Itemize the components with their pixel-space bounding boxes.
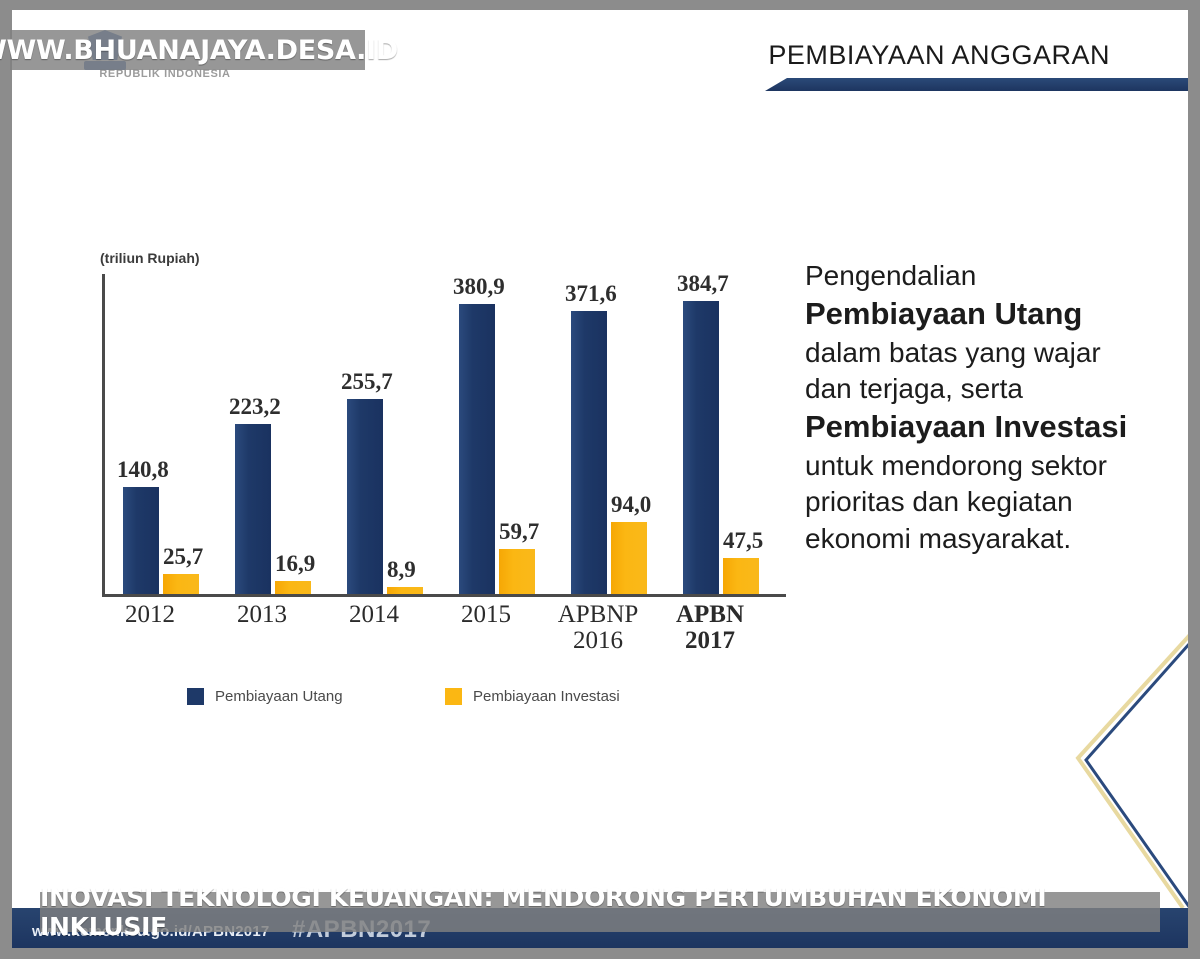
x-axis-tick-label: 2012 <box>95 602 205 628</box>
bar-value-label: 380,9 <box>453 274 505 300</box>
bar-pembiayaan-investasi <box>611 522 647 594</box>
bar-value-label: 384,7 <box>677 271 729 297</box>
bar-value-label: 59,7 <box>499 519 539 545</box>
narrative-plain-3: untuk mendorong sektor prioritas dan keg… <box>805 450 1107 554</box>
bar-pembiayaan-investasi <box>387 587 423 594</box>
legend-swatch-icon <box>445 688 462 705</box>
bar-group: 384,747,5 <box>683 274 763 594</box>
x-axis-tick-label: APBN2017 <box>655 602 765 655</box>
legend-swatch-icon <box>187 688 204 705</box>
bar-group: 255,78,9 <box>347 274 427 594</box>
bar-value-label: 16,9 <box>275 551 315 577</box>
bar-group: 223,216,9 <box>235 274 315 594</box>
legend-label: Pembiayaan Investasi <box>473 688 620 705</box>
bar-pembiayaan-utang <box>235 424 271 594</box>
narrative-bold-pembiayaan-utang: Pembiayaan Utang <box>805 296 1082 331</box>
bar-value-label: 140,8 <box>117 457 169 483</box>
bar-pembiayaan-utang <box>459 304 495 594</box>
infographic-page: REPUBLIK INDONESIA PEMBIAYAAN ANGGARAN (… <box>12 10 1188 948</box>
narrative-text: Pengendalian Pembiayaan Utang dalam bata… <box>805 258 1145 557</box>
bar-group: 380,959,7 <box>459 274 539 594</box>
bar-group: 140,825,7 <box>123 274 203 594</box>
bar-value-label: 8,9 <box>387 557 416 583</box>
x-axis-tick-label: 2013 <box>207 602 317 628</box>
watermark-bottom: INOVASI TEKNOLOGI KEUANGAN: MENDORONG PE… <box>40 892 1160 932</box>
bar-value-label: 47,5 <box>723 528 763 554</box>
bar-pembiayaan-utang <box>123 487 159 594</box>
bar-value-label: 94,0 <box>611 492 651 518</box>
bar-value-label: 255,7 <box>341 369 393 395</box>
bar-chart: (triliun Rupiah) 140,825,7223,216,9255,7… <box>78 250 778 710</box>
narrative-bold-pembiayaan-investasi: Pembiayaan Investasi <box>805 409 1127 444</box>
plot-area: 140,825,7223,216,9255,78,9380,959,7371,6… <box>105 274 786 594</box>
watermark-top: WWW.BHUANAJAYA.DESA.ID <box>10 30 365 70</box>
bar-pembiayaan-utang <box>571 311 607 594</box>
x-axis-tick-label: 2014 <box>319 602 429 628</box>
bar-pembiayaan-investasi <box>723 558 759 594</box>
x-axis-tick-label: APBNP2016 <box>543 602 653 655</box>
legend-item[interactable]: Pembiayaan Utang <box>187 688 343 705</box>
bar-value-label: 371,6 <box>565 281 617 307</box>
narrative-plain-1: Pengendalian <box>805 260 976 291</box>
bar-pembiayaan-utang <box>683 301 719 594</box>
page-title: PEMBIAYAAN ANGGARAN <box>768 40 1110 71</box>
bar-pembiayaan-investasi <box>499 549 535 594</box>
pentagon-outline-decoration <box>968 608 1188 908</box>
bar-pembiayaan-investasi <box>163 574 199 594</box>
bar-value-label: 25,7 <box>163 544 203 570</box>
x-axis-tick-label: 2015 <box>431 602 541 628</box>
legend-item[interactable]: Pembiayaan Investasi <box>445 688 620 705</box>
bar-pembiayaan-investasi <box>275 581 311 594</box>
axis-unit-label: (triliun Rupiah) <box>100 250 200 266</box>
title-underline-bar <box>765 78 1188 91</box>
bar-group: 371,694,0 <box>571 274 651 594</box>
legend-label: Pembiayaan Utang <box>215 688 343 705</box>
bar-pembiayaan-utang <box>347 399 383 594</box>
chart-legend: Pembiayaan UtangPembiayaan Investasi <box>187 688 707 714</box>
bar-value-label: 223,2 <box>229 394 281 420</box>
x-axis-line <box>102 594 786 597</box>
narrative-plain-2: dalam batas yang wajar dan terjaga, sert… <box>805 337 1101 404</box>
